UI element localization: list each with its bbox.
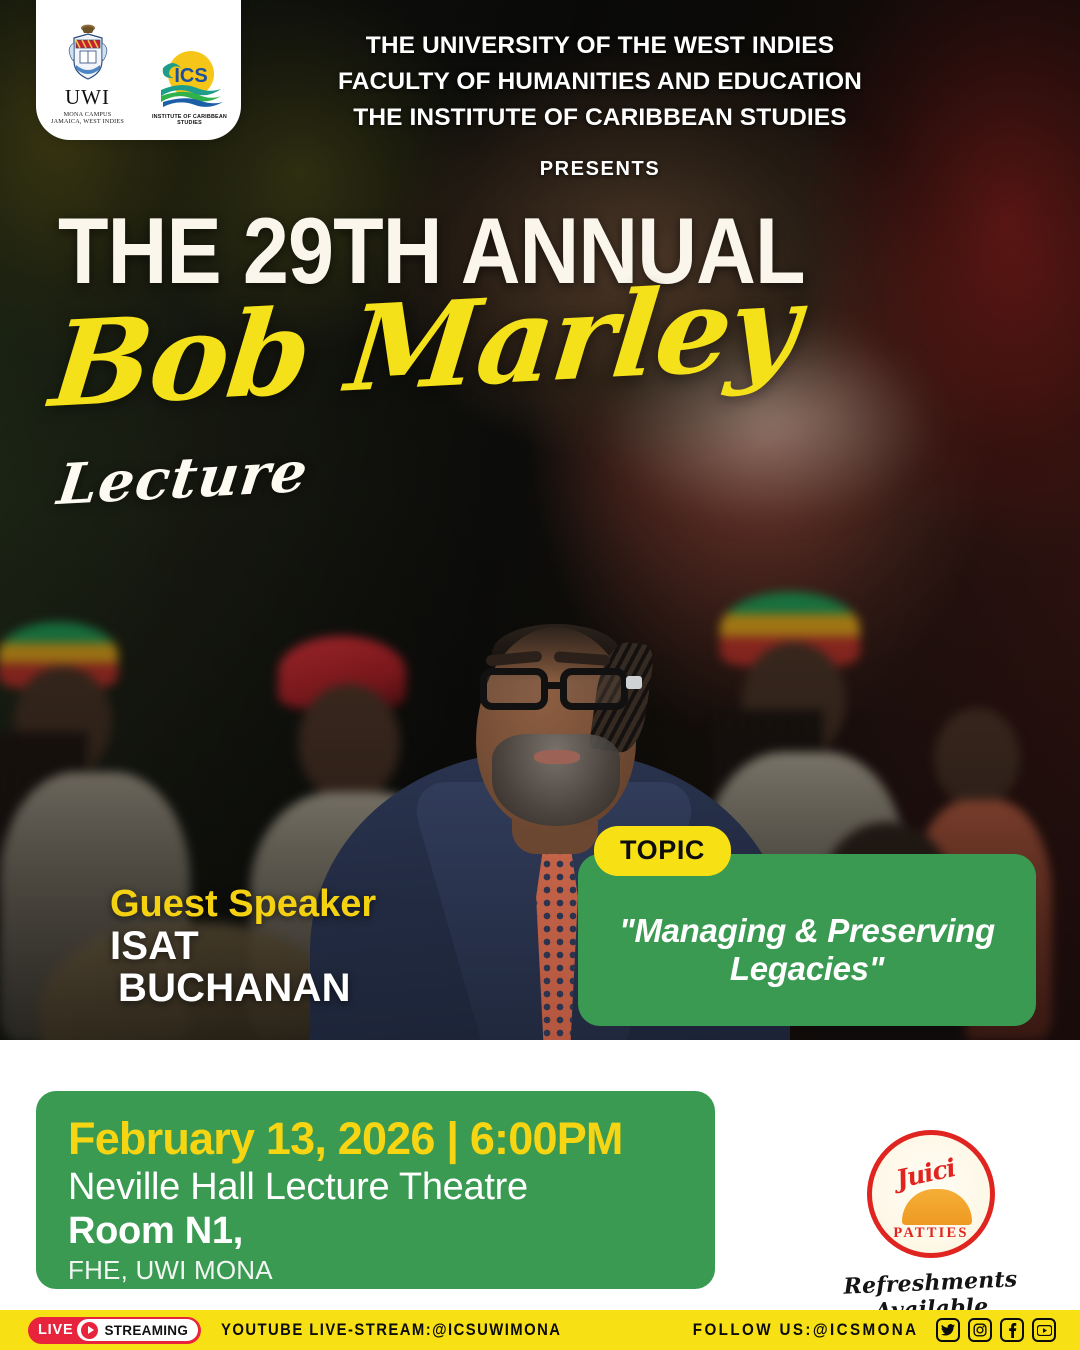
streaming-label: STREAMING	[104, 1323, 188, 1338]
follow-us-text: FOLLOW US:@ICSMONA	[693, 1321, 919, 1340]
juici-brand-word: PATTIES	[872, 1225, 990, 1242]
organization-header: THE UNIVERSITY OF THE WEST INDIES FACULT…	[250, 28, 950, 135]
youtube-stream-handle: YOUTUBE LIVE-STREAM:@ICSUWIMONA	[221, 1321, 561, 1340]
guest-speaker-label: Guest Speaker	[110, 884, 376, 925]
sponsor-block: Juici PATTIES Refreshments Available	[836, 1130, 1026, 1322]
topic-title: "Managing & Preserving Legacies"	[594, 912, 1020, 989]
ics-sun-wave-icon: ICS	[153, 48, 227, 110]
speaker-eyeglasses	[478, 668, 636, 710]
ics-caption: INSTITUTE OF CARIBBEAN STUDIES	[142, 114, 238, 126]
svg-text:ICS: ICS	[174, 65, 207, 87]
youtube-icon[interactable]	[1032, 1318, 1056, 1342]
org-line-faculty: FACULTY OF HUMANITIES AND EDUCATION	[250, 64, 950, 100]
facebook-icon[interactable]	[1000, 1318, 1024, 1342]
uwi-crest-icon	[62, 23, 114, 85]
juici-brand-script: Juici	[894, 1153, 958, 1194]
ics-logo: ICS INSTITUTE OF CARIBBEAN STUDIES	[142, 48, 238, 126]
presents-label: PRESENTS	[250, 158, 950, 181]
juici-patties-logo: Juici PATTIES	[867, 1130, 995, 1258]
uwi-wordmark: UWI	[40, 87, 136, 108]
play-icon	[81, 1322, 98, 1339]
event-room: Room N1,	[68, 1210, 683, 1253]
uwi-campus-line-2: JAMAICA, WEST INDIES	[40, 118, 136, 126]
uwi-logo: UWI MONA CAMPUS JAMAICA, WEST INDIES	[40, 23, 136, 127]
org-line-university: THE UNIVERSITY OF THE WEST INDIES	[250, 28, 950, 64]
institution-logo-card: UWI MONA CAMPUS JAMAICA, WEST INDIES ICS…	[36, 0, 241, 140]
live-label: LIVE	[38, 1322, 73, 1338]
org-line-institute: THE INSTITUTE OF CARIBBEAN STUDIES	[250, 100, 950, 136]
footer-bar: LIVE STREAMING YOUTUBE LIVE-STREAM:@ICSU…	[0, 1310, 1080, 1350]
streaming-pill: STREAMING	[77, 1319, 198, 1341]
uwi-campus-line-1: MONA CAMPUS	[40, 111, 136, 119]
event-poster: UWI MONA CAMPUS JAMAICA, WEST INDIES ICS…	[0, 0, 1080, 1350]
live-streaming-badge: LIVE STREAMING	[28, 1317, 201, 1344]
topic-card: "Managing & Preserving Legacies"	[578, 854, 1036, 1026]
event-details-card: February 13, 2026 | 6:00PM Neville Hall …	[36, 1091, 715, 1289]
event-date-time: February 13, 2026 | 6:00PM	[68, 1115, 683, 1163]
speaker-first-name: ISAT	[110, 925, 376, 967]
follow-block: FOLLOW US:@ICSMONA	[683, 1318, 1056, 1342]
event-venue: Neville Hall Lecture Theatre	[68, 1165, 683, 1210]
title-line-lecture: Lecture	[54, 439, 312, 518]
topic-pill-label: TOPIC	[594, 826, 731, 876]
instagram-icon[interactable]	[968, 1318, 992, 1342]
event-faculty: FHE, UWI MONA	[68, 1255, 683, 1286]
guest-speaker-block: Guest Speaker ISAT BUCHANAN	[110, 884, 376, 1010]
patty-shape-icon	[902, 1189, 972, 1225]
speaker-last-name: BUCHANAN	[118, 967, 376, 1009]
twitter-icon[interactable]	[936, 1318, 960, 1342]
